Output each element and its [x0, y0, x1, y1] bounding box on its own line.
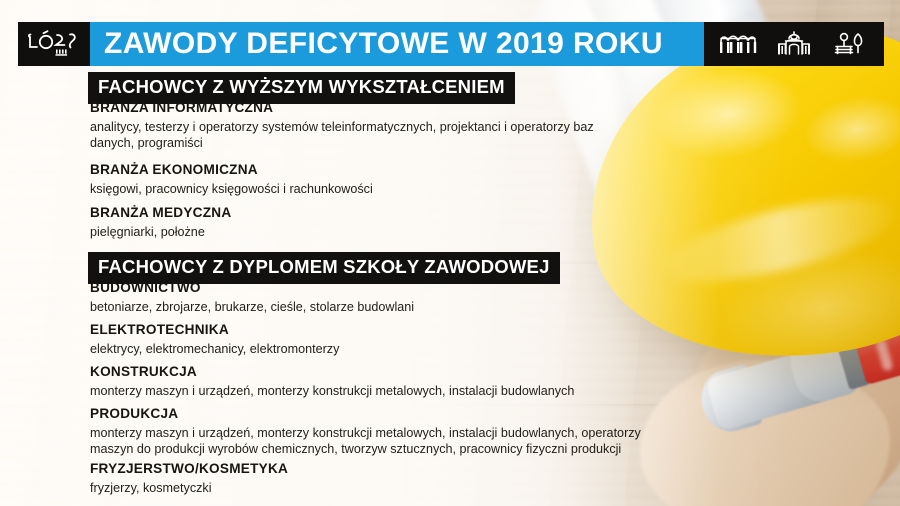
page-title: ZAWODY DEFICYTOWE W 2019 ROKU	[104, 29, 663, 59]
lodz-logo-box	[18, 22, 90, 66]
job-group-description: księgowi, pracownicy księgowości i rachu…	[90, 181, 373, 198]
job-group: ELEKTROTECHNIKA elektrycy, elektromechan…	[90, 322, 339, 357]
job-group-title: PRODUKCJA	[90, 406, 675, 423]
job-group-title: BRANŻA MEDYCZNA	[90, 205, 231, 222]
job-group-description: elektrycy, elektromechanicy, elektromont…	[90, 341, 339, 358]
job-group-description: fryzjerzy, kosmetyczki	[90, 480, 288, 497]
infographic-root: ZAWODY DEFICYTOWE W 2019 ROKU	[0, 0, 900, 506]
job-group-description: pielęgniarki, położne	[90, 224, 231, 241]
lodz-city-logo-icon	[26, 29, 82, 59]
job-group: BRANŻA MEDYCZNA pielęgniarki, położne	[90, 205, 231, 240]
header-band: ZAWODY DEFICYTOWE W 2019 ROKU	[18, 22, 884, 66]
job-group-title: ELEKTROTECHNIKA	[90, 322, 339, 339]
job-group-description: analitycy, testerzy i operatorzy systemó…	[90, 119, 610, 152]
job-group-description: monterzy maszyn i urządzeń, monterzy kon…	[90, 425, 675, 458]
building-facade-icon	[774, 30, 814, 58]
job-group-title: BUDOWNICTWO	[90, 280, 414, 297]
section-heading-vocational-diploma: FACHOWCY Z DYPLOMEM SZKOŁY ZAWODOWEJ	[88, 252, 560, 284]
job-group: FRYZJERSTWO/KOSMETYKA fryzjerzy, kosmety…	[90, 461, 288, 496]
job-group-title: BRANŻA INFORMATYCZNA	[90, 100, 610, 117]
job-group-description: monterzy maszyn i urządzeń, monterzy kon…	[90, 383, 574, 400]
park-bench-tree-icon	[830, 30, 870, 58]
job-group: PRODUKCJA monterzy maszyn i urządzeń, mo…	[90, 406, 675, 458]
section-heading-higher-education: FACHOWCY Z WYŻSZYM WYKSZTAŁCENIEM	[88, 72, 515, 104]
job-group: BRANŻA EKONOMICZNA księgowi, pracownicy …	[90, 162, 373, 197]
job-group-description: betoniarze, zbrojarze, brukarze, cieśle,…	[90, 299, 414, 316]
title-bar: ZAWODY DEFICYTOWE W 2019 ROKU	[90, 22, 704, 66]
header-icon-box	[704, 22, 884, 66]
job-group: BUDOWNICTWO betoniarze, zbrojarze, bruka…	[90, 280, 414, 315]
job-group: KONSTRUKCJA monterzy maszyn i urządzeń, …	[90, 364, 574, 399]
job-group: BRANŻA INFORMATYCZNA analitycy, testerzy…	[90, 100, 610, 152]
job-group-title: FRYZJERSTWO/KOSMETYKA	[90, 461, 288, 478]
job-group-title: BRANŻA EKONOMICZNA	[90, 162, 373, 179]
colonnade-arches-icon	[718, 30, 758, 58]
job-group-title: KONSTRUKCJA	[90, 364, 574, 381]
content-layer: ZAWODY DEFICYTOWE W 2019 ROKU	[0, 0, 900, 506]
